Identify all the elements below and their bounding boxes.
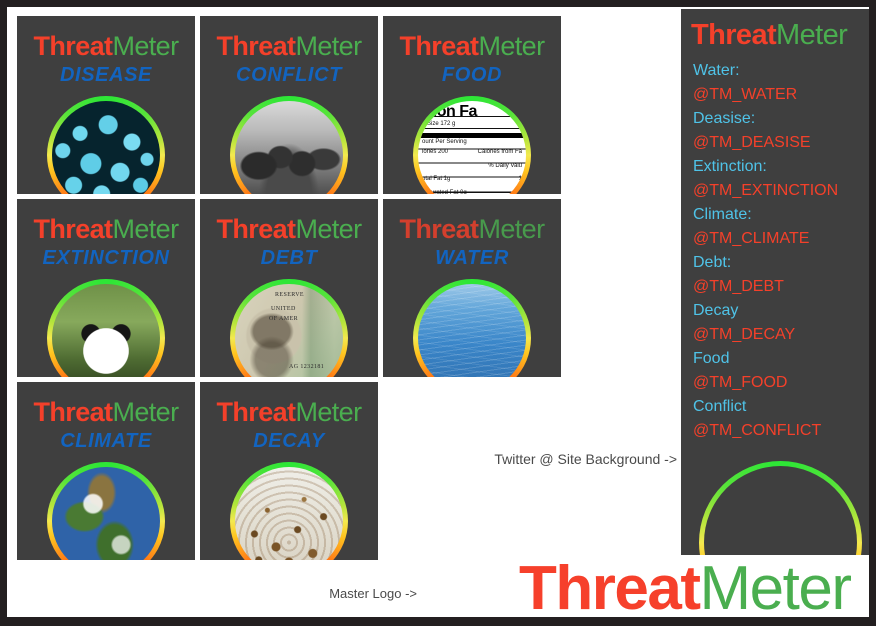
tile-image-climate bbox=[52, 467, 160, 560]
handle-value[interactable]: @TM_WATER bbox=[693, 86, 797, 103]
logo-meter-text: Meter bbox=[295, 31, 361, 61]
banknote-reserve-text: RESERVE bbox=[275, 292, 304, 298]
nutrition-daily-value: % Daily Valu bbox=[488, 163, 522, 169]
gauge-ring-icon bbox=[47, 96, 165, 194]
logo-threat-text: Threat bbox=[400, 214, 479, 244]
tile-climate[interactable]: ThreatMeter CLIMATE bbox=[17, 382, 195, 560]
tile-subtitle: CLIMATE bbox=[60, 430, 152, 452]
banknote-serial-text: AG 1232181 bbox=[289, 364, 324, 370]
tile-logo: ThreatMeter bbox=[217, 397, 362, 427]
logo-threat-text: Threat bbox=[217, 31, 296, 61]
annotation-master-logo: Master Logo -> bbox=[307, 586, 417, 601]
tile-image-debt: RESERVE UNITED OF AMER AG 1232181 bbox=[235, 284, 343, 377]
list-item: Food bbox=[693, 347, 869, 371]
handle-value[interactable]: @TM_EXTINCTION bbox=[693, 182, 838, 199]
list-item[interactable]: @TM_WATER bbox=[693, 83, 869, 107]
tile-subtitle: DEBT bbox=[261, 247, 318, 269]
logo-threat-text: Threat bbox=[519, 554, 699, 617]
tile-subtitle: DISEASE bbox=[60, 64, 152, 86]
logo-threat-text: Threat bbox=[34, 397, 113, 427]
tile-logo: ThreatMeter bbox=[34, 31, 179, 61]
handle-value[interactable]: @TM_CLIMATE bbox=[693, 230, 809, 247]
handle-label: Climate: bbox=[693, 206, 752, 223]
logo-meter-text: Meter bbox=[478, 31, 544, 61]
outer-frame: ThreatMeter DISEASE ThreatMeter CONFLICT… bbox=[0, 0, 876, 626]
master-logo: ThreatMeter bbox=[519, 555, 850, 617]
tile-debt[interactable]: ThreatMeter DEBT RESERVE UNITED OF AMER … bbox=[200, 199, 378, 377]
logo-threat-text: Threat bbox=[34, 31, 113, 61]
gauge-ring-icon bbox=[47, 279, 165, 377]
tile-subtitle: EXTINCTION bbox=[42, 247, 169, 269]
list-item[interactable]: @TM_FOOD bbox=[693, 371, 869, 395]
handle-label: Extinction: bbox=[693, 158, 767, 175]
tile-image-conflict bbox=[235, 101, 343, 194]
tile-image-extinction bbox=[52, 284, 160, 377]
annotation-twitter-background: Twitter @ Site Background -> bbox=[477, 451, 677, 467]
handle-label: Debt: bbox=[693, 254, 731, 271]
nutrition-total-fat-pct: 1 bbox=[519, 176, 522, 182]
logo-meter-text: Meter bbox=[478, 214, 544, 244]
tile-water[interactable]: ThreatMeter WATER bbox=[383, 199, 561, 377]
logo-meter-text: Meter bbox=[295, 214, 361, 244]
handle-label: Decay bbox=[693, 302, 738, 319]
logo-meter-text: Meter bbox=[112, 214, 178, 244]
gauge-ring-icon bbox=[230, 462, 348, 560]
tile-disease[interactable]: ThreatMeter DISEASE bbox=[17, 16, 195, 194]
logo-threat-text: Threat bbox=[217, 397, 296, 427]
list-item: Conflict bbox=[693, 395, 869, 419]
tile-subtitle: WATER bbox=[435, 247, 509, 269]
list-item[interactable]: @TM_CLIMATE bbox=[693, 227, 869, 251]
logo-tile-grid: ThreatMeter DISEASE ThreatMeter CONFLICT… bbox=[10, 9, 570, 569]
tile-conflict[interactable]: ThreatMeter CONFLICT bbox=[200, 16, 378, 194]
handle-label: Deasise: bbox=[693, 110, 755, 127]
nutrition-amount: ount Per Serving bbox=[422, 139, 467, 145]
tile-logo: ThreatMeter bbox=[217, 31, 362, 61]
tile-image-disease bbox=[52, 101, 160, 194]
gauge-ring-icon: RESERVE UNITED OF AMER AG 1232181 bbox=[230, 279, 348, 377]
list-item[interactable]: @TM_DEASISE bbox=[693, 131, 869, 155]
list-item: Decay bbox=[693, 299, 869, 323]
handle-value[interactable]: @TM_DEASISE bbox=[693, 134, 811, 151]
list-item[interactable]: @TM_DEBT bbox=[693, 275, 869, 299]
gauge-ring-icon bbox=[47, 462, 165, 560]
logo-meter-text: Meter bbox=[699, 554, 850, 617]
handle-value[interactable]: @TM_FOOD bbox=[693, 374, 787, 391]
handle-label: Water: bbox=[693, 62, 740, 79]
sidebar-logo: ThreatMeter bbox=[691, 19, 847, 51]
list-item: Deasise: bbox=[693, 107, 869, 131]
tile-logo: ThreatMeter bbox=[217, 214, 362, 244]
tile-image-decay bbox=[235, 467, 343, 560]
logo-meter-text: Meter bbox=[112, 397, 178, 427]
list-item[interactable]: @TM_CONFLICT bbox=[693, 419, 869, 443]
tile-subtitle: CONFLICT bbox=[236, 64, 342, 86]
list-item[interactable]: @TM_EXTINCTION bbox=[693, 179, 869, 203]
tile-logo: ThreatMeter bbox=[34, 397, 179, 427]
tile-image-water bbox=[418, 284, 526, 377]
nutrition-total-fat: otal Fat 1g bbox=[422, 176, 450, 182]
list-item: Water: bbox=[693, 59, 869, 83]
handle-value[interactable]: @TM_CONFLICT bbox=[693, 422, 821, 439]
nutrition-saturated-fat: Saturated Fat 0g bbox=[422, 190, 467, 194]
logo-meter-text: Meter bbox=[295, 397, 361, 427]
handle-value[interactable]: @TM_DECAY bbox=[693, 326, 795, 343]
nutrition-title: ition Fa bbox=[424, 103, 477, 121]
logo-threat-text: Threat bbox=[217, 214, 296, 244]
nutrition-calories: lories 200 bbox=[422, 149, 448, 155]
logo-threat-text: Threat bbox=[400, 31, 479, 61]
tile-extinction[interactable]: ThreatMeter EXTINCTION bbox=[17, 199, 195, 377]
gauge-ring-center bbox=[704, 466, 857, 555]
tile-food[interactable]: ThreatMeter FOOD ition Fa g Size 172 g o… bbox=[383, 16, 561, 194]
banknote-america-text: OF AMER bbox=[269, 316, 298, 322]
nutrition-calories-from-fat: Calories from Fa bbox=[478, 149, 522, 155]
twitter-handle-list: Water: @TM_WATER Deasise: @TM_DEASISE Ex… bbox=[693, 59, 869, 443]
site-background-panel[interactable]: ThreatMeter Water: @TM_WATER Deasise: @T… bbox=[681, 9, 869, 555]
logo-meter-text: Meter bbox=[112, 31, 178, 61]
gauge-ring-icon: ition Fa g Size 172 g ount Per Serving l… bbox=[413, 96, 531, 194]
gauge-ring-icon bbox=[413, 279, 531, 377]
tile-logo: ThreatMeter bbox=[34, 214, 179, 244]
page-canvas: ThreatMeter DISEASE ThreatMeter CONFLICT… bbox=[7, 7, 869, 617]
list-item: Debt: bbox=[693, 251, 869, 275]
tile-decay[interactable]: ThreatMeter DECAY bbox=[200, 382, 378, 560]
tile-image-food: ition Fa g Size 172 g ount Per Serving l… bbox=[418, 101, 526, 194]
handle-label: Food bbox=[693, 350, 729, 367]
list-item[interactable]: @TM_DECAY bbox=[693, 323, 869, 347]
logo-meter-text: Meter bbox=[776, 19, 847, 51]
tile-subtitle: DECAY bbox=[253, 430, 325, 452]
logo-threat-text: Threat bbox=[691, 19, 776, 51]
logo-threat-text: Threat bbox=[34, 214, 113, 244]
tile-subtitle: FOOD bbox=[442, 64, 502, 86]
gauge-ring-icon bbox=[230, 96, 348, 194]
gauge-ring-icon bbox=[699, 461, 862, 555]
nutrition-saturated-pct: 0 bbox=[519, 190, 522, 194]
handle-value[interactable]: @TM_DEBT bbox=[693, 278, 784, 295]
banknote-united-text: UNITED bbox=[271, 306, 296, 312]
handle-label: Conflict bbox=[693, 398, 746, 415]
list-item: Climate: bbox=[693, 203, 869, 227]
list-item: Extinction: bbox=[693, 155, 869, 179]
nutrition-serving: g Size 172 g bbox=[422, 121, 455, 127]
tile-logo: ThreatMeter bbox=[400, 214, 545, 244]
tile-logo: ThreatMeter bbox=[400, 31, 545, 61]
